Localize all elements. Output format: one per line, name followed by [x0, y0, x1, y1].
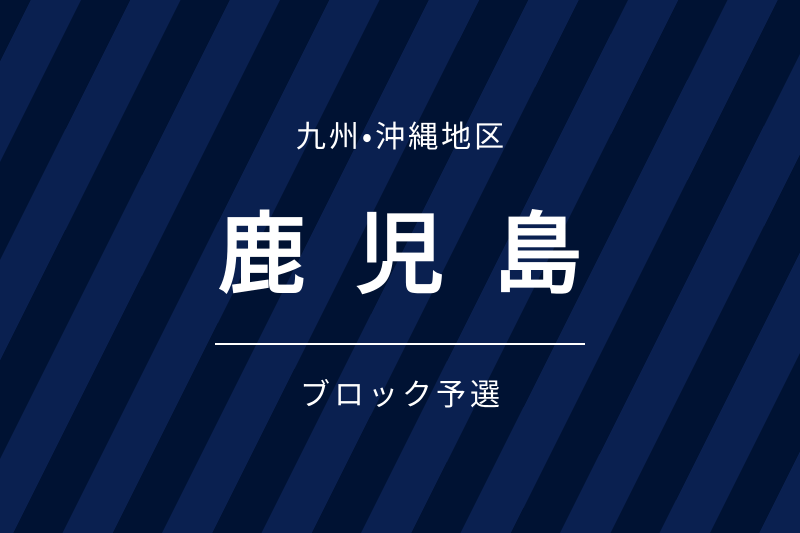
banner-content: 九州・沖縄地区 鹿児島 ブロック予選 [0, 0, 800, 533]
page-title: 鹿児島 [168, 211, 632, 299]
round-label: ブロック予選 [296, 381, 504, 411]
tournament-banner-card: 九州・沖縄地区 鹿児島 ブロック予選 [0, 0, 800, 533]
divider [215, 343, 585, 345]
region-label: 九州・沖縄地区 [293, 123, 507, 153]
